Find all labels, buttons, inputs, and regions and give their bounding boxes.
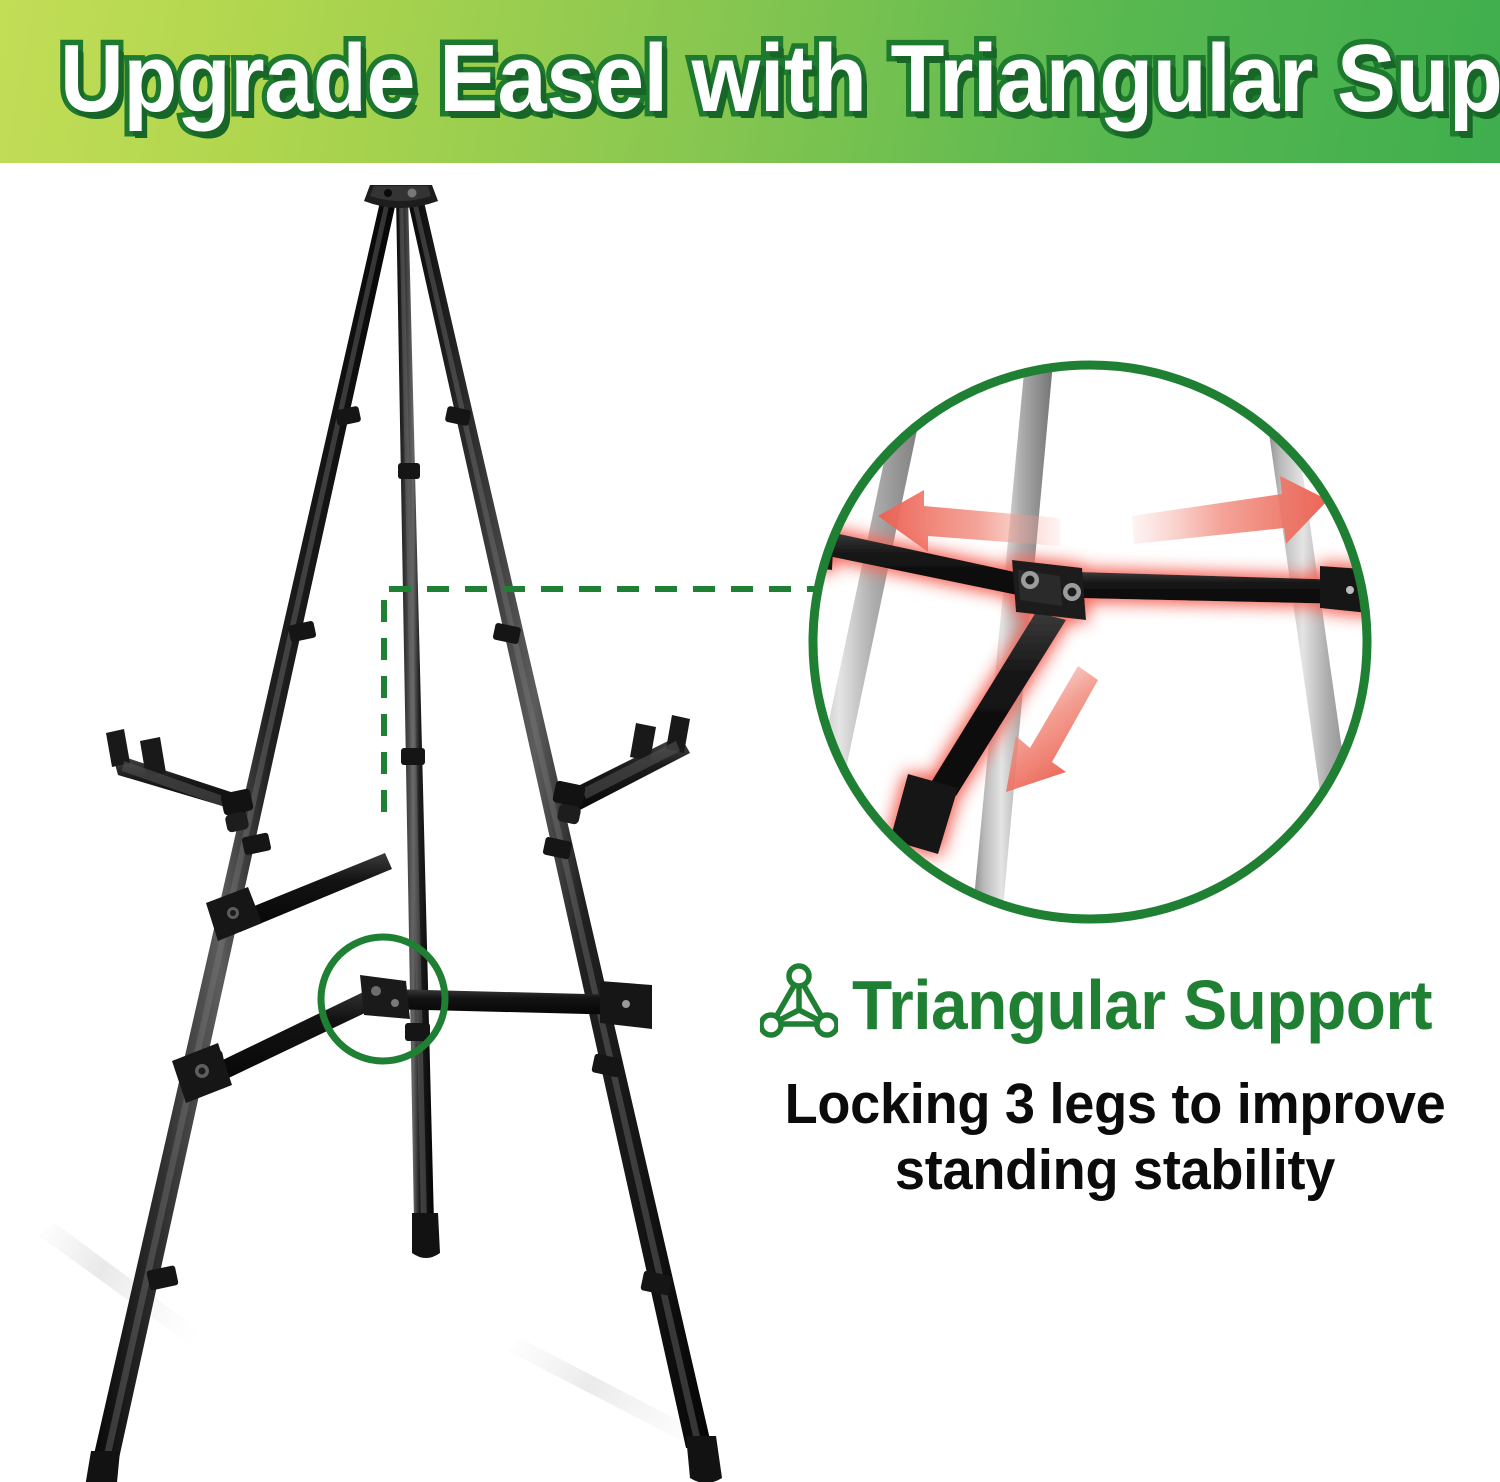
callout-dashed-line [384, 589, 818, 812]
inset-content [760, 330, 1500, 970]
easel-left-tray [106, 729, 254, 833]
zoom-detail-inset [760, 330, 1500, 970]
header-banner: Upgrade Easel with Triangular Support [0, 0, 1500, 163]
page-title-text: Upgrade Easel with Triangular Support [60, 25, 1500, 132]
feature-title: Triangular Support [852, 966, 1432, 1044]
easel-top-cap [364, 185, 438, 208]
feature-subtitle-line-1: Locking 3 legs to improve [754, 1071, 1476, 1137]
feature-subtitle-line-2: standing stability [754, 1137, 1476, 1203]
feature-heading-row: Triangular Support [735, 962, 1495, 1047]
page-title: Upgrade Easel with Triangular Support [60, 24, 1440, 134]
feature-subtitle: Locking 3 legs to improve standing stabi… [754, 1071, 1476, 1203]
tripod-triangle-icon [760, 962, 838, 1047]
product-infographic-page: Upgrade Easel with Triangular Support [0, 0, 1500, 1482]
feature-text-block: Triangular Support Locking 3 legs to imp… [735, 962, 1495, 1203]
